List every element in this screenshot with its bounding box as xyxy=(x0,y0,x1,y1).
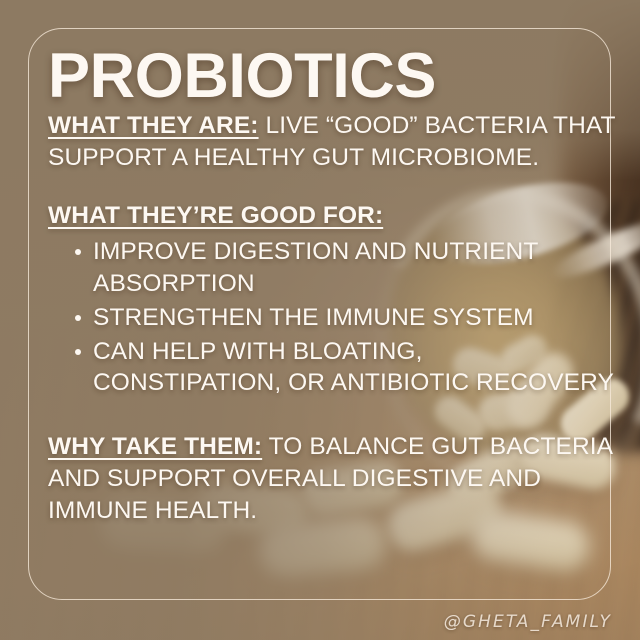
good-for-heading: WHAT THEY’RE GOOD FOR: xyxy=(48,200,616,232)
why-take-paragraph: WHY TAKE THEM: TO BALANCE GUT BACTERIA A… xyxy=(48,431,616,527)
spacer xyxy=(36,174,616,200)
list-item: IMPROVE DIGESTION AND NUTRIENT ABSORPTIO… xyxy=(74,236,616,300)
spacer xyxy=(36,401,616,431)
what-they-are-paragraph: WHAT THEY ARE: LIVE “GOOD” BACTERIA THAT… xyxy=(48,110,616,174)
section-good-for: WHAT THEY’RE GOOD FOR: IMPROVE DIGESTION… xyxy=(48,200,616,399)
section-what-they-are: WHAT THEY ARE: LIVE “GOOD” BACTERIA THAT… xyxy=(48,110,616,174)
list-item: STRENGTHEN THE IMMUNE SYSTEM xyxy=(74,302,616,334)
good-for-lead: WHAT THEY’RE GOOD FOR: xyxy=(48,202,383,229)
why-take-lead: WHY TAKE THEM: xyxy=(48,433,262,460)
poster-content: PROBIOTICS WHAT THEY ARE: LIVE “GOOD” BA… xyxy=(36,46,616,527)
probiotics-infographic-poster: PROBIOTICS WHAT THEY ARE: LIVE “GOOD” BA… xyxy=(0,0,640,640)
what-they-are-lead: WHAT THEY ARE: xyxy=(48,112,259,139)
watermark-handle: @GHETA_FAMILY xyxy=(444,612,612,632)
good-for-list: IMPROVE DIGESTION AND NUTRIENT ABSORPTIO… xyxy=(48,236,616,399)
page-title: PROBIOTICS xyxy=(48,46,616,106)
list-item: CAN HELP WITH BLOATING, CONSTIPATION, OR… xyxy=(74,336,616,400)
section-why-take-them: WHY TAKE THEM: TO BALANCE GUT BACTERIA A… xyxy=(48,431,616,527)
